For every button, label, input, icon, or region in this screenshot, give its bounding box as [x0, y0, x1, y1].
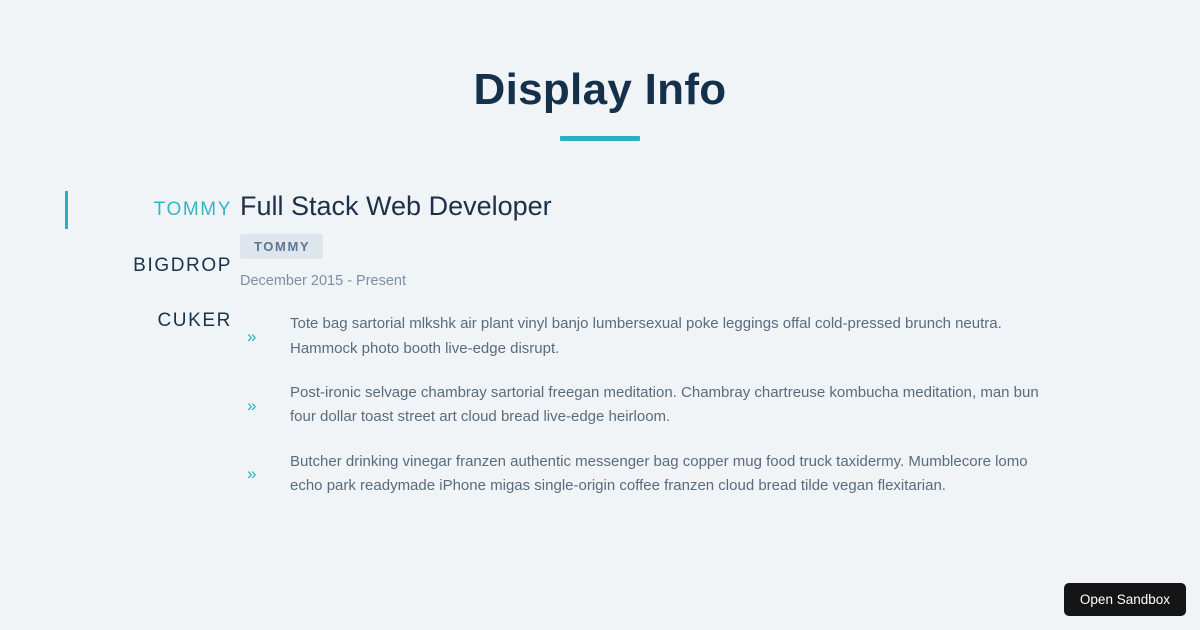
list-item-text: Post-ironic selvage chambray sartorial f…: [290, 381, 1040, 430]
responsibility-list: » Tote bag sartorial mlkshk air plant vi…: [240, 312, 1040, 498]
sidebar-item-cuker[interactable]: CUKER: [65, 302, 240, 340]
page-title: Display Info: [0, 68, 1200, 112]
sidebar-item-tommy[interactable]: TOMMY: [65, 191, 240, 229]
sidebar-item-label: BIGDROP: [133, 255, 232, 276]
double-chevron-right-icon: »: [240, 397, 290, 414]
list-item-text: Butcher drinking vinegar franzen authent…: [290, 450, 1040, 499]
list-item: » Post-ironic selvage chambray sartorial…: [240, 381, 1040, 430]
main-layout: TOMMY BIGDROP CUKER Full Stack Web Devel…: [0, 191, 1200, 498]
page-header: Display Info: [0, 0, 1200, 141]
sidebar-item-label: CUKER: [157, 310, 232, 331]
double-chevron-right-icon: »: [240, 328, 290, 345]
sidebar-item-bigdrop[interactable]: BIGDROP: [65, 247, 240, 285]
job-title: Full Stack Web Developer: [240, 191, 1040, 222]
title-underline-accent: [560, 136, 640, 141]
sidebar-item-label: TOMMY: [154, 199, 232, 220]
open-sandbox-button[interactable]: Open Sandbox: [1064, 583, 1186, 617]
list-item: » Tote bag sartorial mlkshk air plant vi…: [240, 312, 1040, 361]
double-chevron-right-icon: »: [240, 465, 290, 482]
job-detail-panel: Full Stack Web Developer TOMMY December …: [240, 191, 1100, 498]
list-item: » Butcher drinking vinegar franzen authe…: [240, 450, 1040, 499]
list-item-text: Tote bag sartorial mlkshk air plant viny…: [290, 312, 1040, 361]
date-range: December 2015 - Present: [240, 273, 1040, 290]
company-tab-list: TOMMY BIGDROP CUKER: [0, 191, 240, 358]
company-badge: TOMMY: [240, 234, 323, 259]
